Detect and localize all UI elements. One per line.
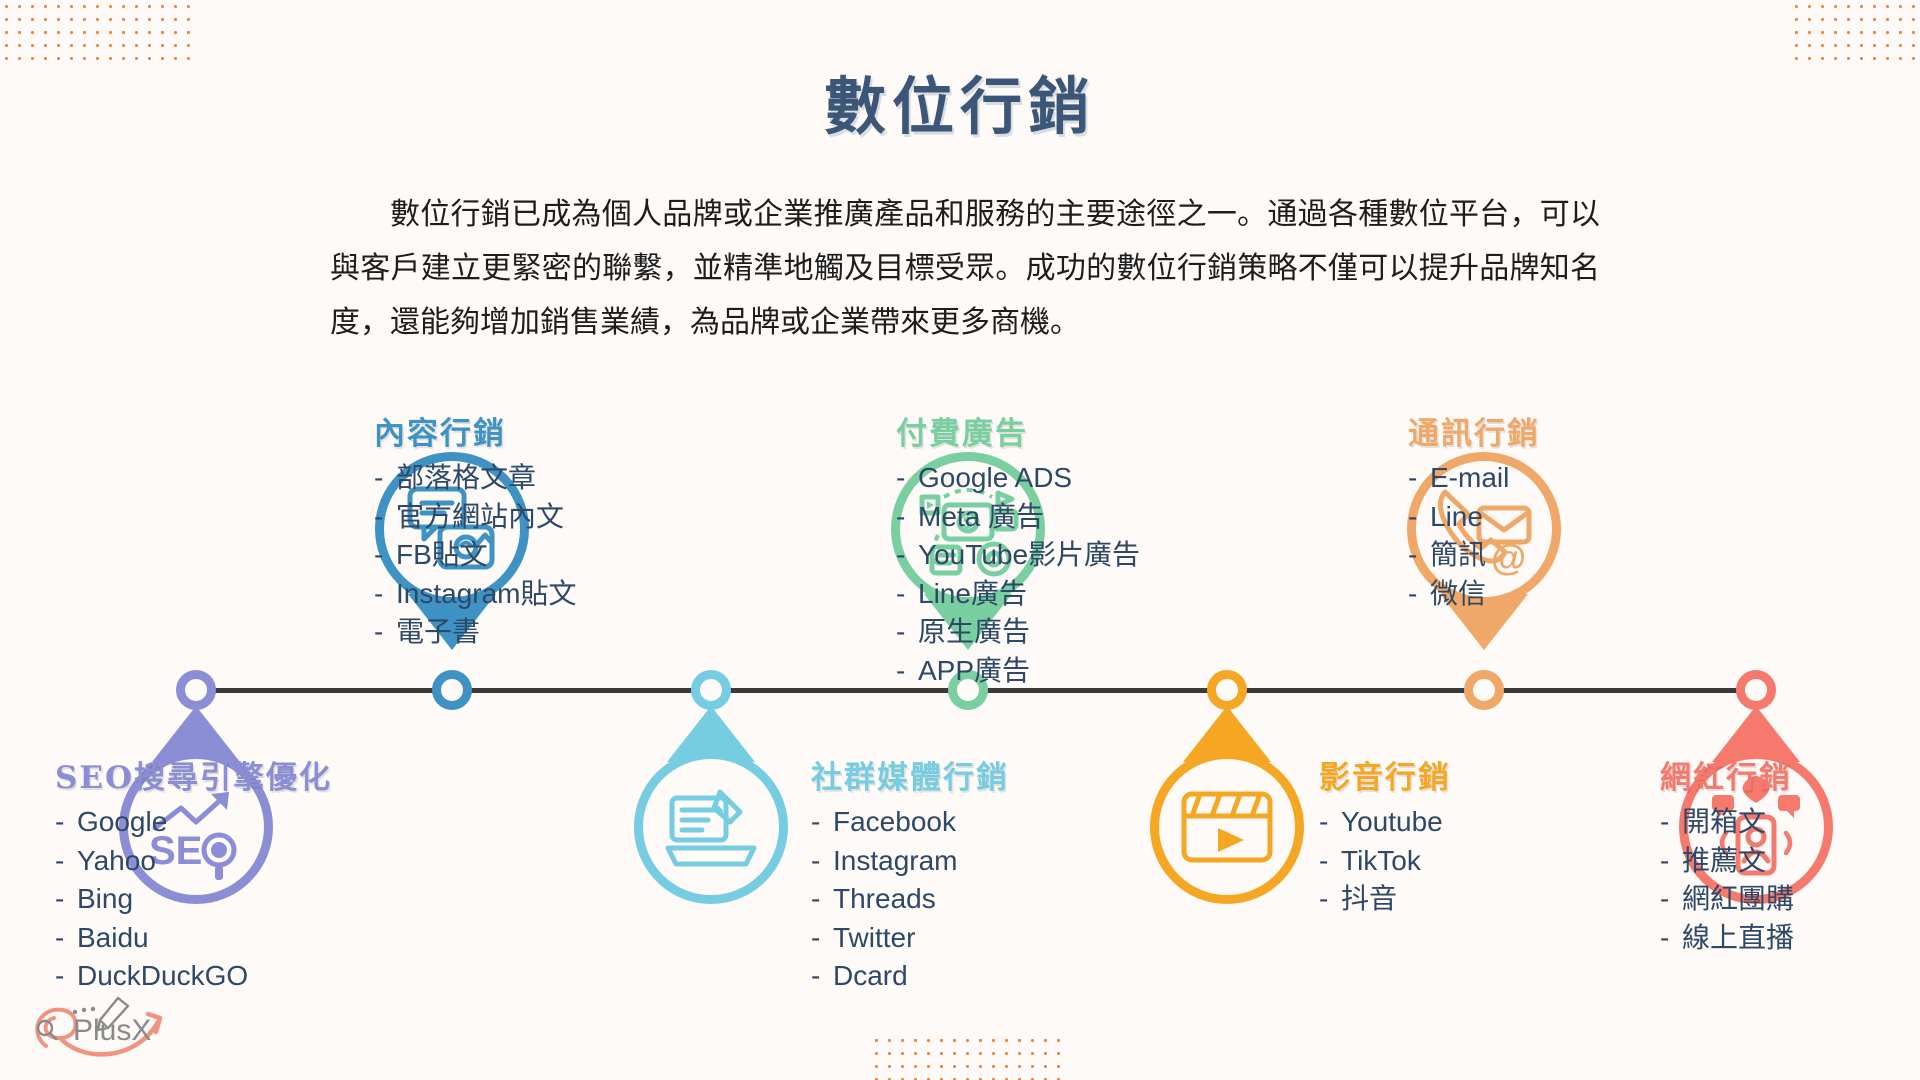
section-content-marketing: 內容行銷部落格文章官方網站內文FB貼文Instagram貼文電子書 bbox=[374, 408, 577, 652]
plusx-logo: PlusX bbox=[18, 988, 188, 1068]
section-list-video-marketing: YoutubeTikTok抖音 bbox=[1319, 803, 1451, 919]
page-title: 數位行銷 bbox=[0, 56, 1920, 146]
list-item: 官方網站內文 bbox=[374, 498, 577, 537]
section-title-influencer-marketing: 網紅行銷 bbox=[1660, 752, 1794, 797]
section-list-social-media-marketing: FacebookInstagramThreadsTwitterDcard bbox=[811, 803, 1009, 996]
list-item: E-mail bbox=[1408, 459, 1540, 498]
list-item: APP廣告 bbox=[896, 652, 1140, 691]
list-item: Twitter bbox=[811, 919, 1009, 958]
section-list-content-marketing: 部落格文章官方網站內文FB貼文Instagram貼文電子書 bbox=[374, 459, 577, 652]
list-item: 推薦文 bbox=[1660, 842, 1794, 881]
section-list-influencer-marketing: 開箱文推薦文網紅團購線上直播 bbox=[1660, 803, 1794, 957]
list-item: 網紅團購 bbox=[1660, 880, 1794, 919]
list-item: Dcard bbox=[811, 957, 1009, 996]
section-title-messaging-marketing: 通訊行銷 bbox=[1408, 408, 1540, 453]
list-item: TikTok bbox=[1319, 842, 1451, 881]
list-item: Instagram貼文 bbox=[374, 575, 577, 614]
list-item: 微信 bbox=[1408, 575, 1540, 614]
pin-video-marketing[interactable] bbox=[1150, 750, 1304, 904]
timeline-node-content-marketing[interactable] bbox=[432, 670, 472, 710]
list-item: Google bbox=[55, 803, 332, 842]
list-item: FB貼文 bbox=[374, 536, 577, 575]
logo-text: PlusX bbox=[73, 1014, 151, 1047]
pin-circle-video-marketing bbox=[1150, 750, 1304, 904]
list-item: Line廣告 bbox=[896, 575, 1140, 614]
pin-social-media-marketing[interactable] bbox=[634, 750, 788, 904]
list-item: 抖音 bbox=[1319, 880, 1451, 919]
section-title-social-media-marketing: 社群媒體行銷 bbox=[811, 752, 1009, 797]
list-item: Threads bbox=[811, 880, 1009, 919]
list-item: Yahoo bbox=[55, 842, 332, 881]
section-title-content-marketing: 內容行銷 bbox=[374, 408, 577, 453]
video-play-icon bbox=[1174, 774, 1280, 880]
intro-paragraph: 數位行銷已成為個人品牌或企業推廣產品和服務的主要途徑之一。通過各種數位平台，可以… bbox=[330, 188, 1600, 350]
list-item: Bing bbox=[55, 880, 332, 919]
dot-pattern-top-left bbox=[0, 0, 190, 62]
list-item: 簡訊 bbox=[1408, 536, 1540, 575]
list-item: 電子書 bbox=[374, 613, 577, 652]
list-item: Baidu bbox=[55, 919, 332, 958]
timeline-node-video-marketing[interactable] bbox=[1207, 670, 1247, 710]
list-item: 開箱文 bbox=[1660, 803, 1794, 842]
section-influencer-marketing: 網紅行銷開箱文推薦文網紅團購線上直播 bbox=[1660, 752, 1794, 957]
list-item: 部落格文章 bbox=[374, 459, 577, 498]
section-title-video-marketing: 影音行銷 bbox=[1319, 752, 1451, 797]
list-item: Google ADS bbox=[896, 459, 1140, 498]
timeline-node-seo[interactable] bbox=[176, 670, 216, 710]
dot-pattern-top-right bbox=[1790, 0, 1920, 62]
list-item: 原生廣告 bbox=[896, 613, 1140, 652]
list-item: Meta 廣告 bbox=[896, 498, 1140, 537]
section-video-marketing: 影音行銷YoutubeTikTok抖音 bbox=[1319, 752, 1451, 919]
section-paid-ads: 付費廣告Google ADSMeta 廣告YouTube影片廣告Line廣告原生… bbox=[896, 408, 1140, 690]
section-title-seo: SEO搜尋引擎優化 bbox=[55, 752, 332, 797]
pin-circle-social-media-marketing bbox=[634, 750, 788, 904]
section-list-seo: GoogleYahooBingBaiduDuckDuckGO bbox=[55, 803, 332, 996]
list-item: Line bbox=[1408, 498, 1540, 537]
list-item: Facebook bbox=[811, 803, 1009, 842]
section-list-messaging-marketing: E-mailLine簡訊微信 bbox=[1408, 459, 1540, 613]
timeline-node-messaging-marketing[interactable] bbox=[1464, 670, 1504, 710]
list-item: 線上直播 bbox=[1660, 919, 1794, 958]
section-title-paid-ads: 付費廣告 bbox=[896, 408, 1140, 453]
section-messaging-marketing: 通訊行銷E-mailLine簡訊微信 bbox=[1408, 408, 1540, 613]
section-seo: SEO搜尋引擎優化GoogleYahooBingBaiduDuckDuckGO bbox=[55, 752, 332, 996]
list-item: Instagram bbox=[811, 842, 1009, 881]
list-item: DuckDuckGO bbox=[55, 957, 332, 996]
timeline-node-social-media-marketing[interactable] bbox=[691, 670, 731, 710]
social-laptop-icon bbox=[658, 774, 764, 880]
section-social-media-marketing: 社群媒體行銷FacebookInstagramThreadsTwitterDca… bbox=[811, 752, 1009, 996]
list-item: Youtube bbox=[1319, 803, 1451, 842]
timeline-node-influencer-marketing[interactable] bbox=[1736, 670, 1776, 710]
dot-pattern-bottom-center bbox=[870, 1034, 1060, 1080]
list-item: YouTube影片廣告 bbox=[896, 536, 1140, 575]
section-list-paid-ads: Google ADSMeta 廣告YouTube影片廣告Line廣告原生廣告AP… bbox=[896, 459, 1140, 690]
